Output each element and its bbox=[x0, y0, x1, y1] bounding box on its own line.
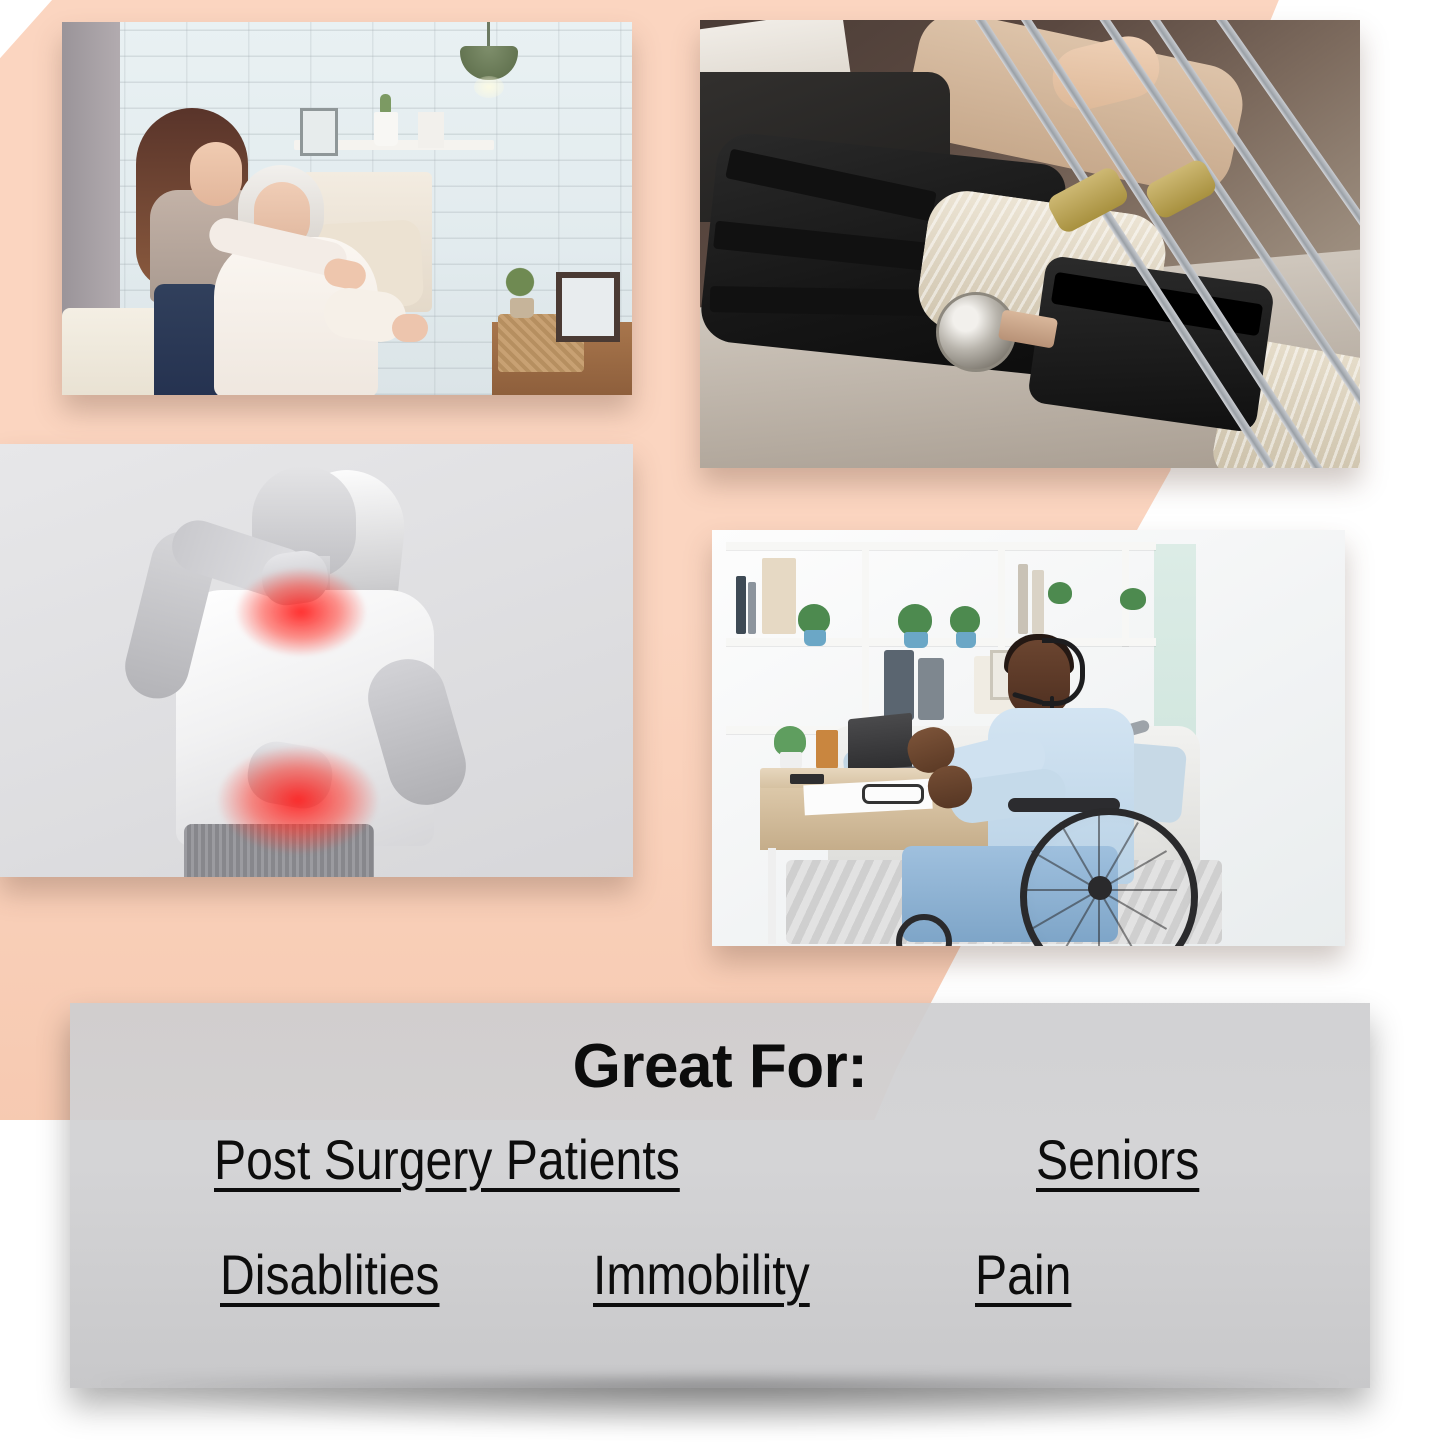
shelf-plant-pot-2 bbox=[904, 632, 928, 648]
senior-hand bbox=[392, 314, 428, 342]
photo-caregiver-senior bbox=[62, 22, 632, 395]
great-for-panel: Great For: Post Surgery Patients Seniors… bbox=[70, 1003, 1370, 1388]
shelf-plant-4 bbox=[1048, 582, 1072, 604]
caregiver-face bbox=[190, 142, 242, 206]
plant-pot bbox=[374, 112, 398, 146]
desk-leg-left bbox=[768, 848, 776, 944]
brace-strap-bottom bbox=[710, 286, 930, 316]
benefit-item-pain: Pain bbox=[975, 1246, 1071, 1305]
benefit-item-disablities: Disablities bbox=[220, 1246, 439, 1305]
shelf-card bbox=[418, 112, 444, 148]
photo-back-neck-pain bbox=[0, 444, 633, 877]
benefit-list: Post Surgery Patients Seniors Disablitie… bbox=[128, 1131, 1312, 1361]
shelf-divider-1 bbox=[862, 542, 869, 734]
shelf-plant-5 bbox=[1120, 588, 1146, 610]
photo-leg-brace-crutches bbox=[700, 20, 1360, 468]
shelf-book-2 bbox=[748, 582, 756, 634]
pain-highlight-neck bbox=[236, 568, 366, 656]
shelf-plant-3 bbox=[950, 606, 980, 634]
shelf-box-2 bbox=[918, 658, 944, 720]
shelf-book-3 bbox=[762, 558, 796, 634]
picture-frame-large bbox=[556, 272, 620, 342]
eyeglasses bbox=[862, 784, 924, 804]
lamp-cord bbox=[487, 22, 490, 48]
wheel-hub bbox=[1088, 876, 1112, 900]
shelf-box-1 bbox=[884, 650, 914, 720]
benefit-row: Post Surgery Patients Seniors bbox=[128, 1131, 1312, 1190]
shelf-book-4 bbox=[1018, 564, 1028, 634]
pencil-cup bbox=[816, 730, 838, 770]
benefit-item-post-surgery-patients: Post Surgery Patients bbox=[214, 1131, 680, 1190]
shelf-book-5 bbox=[1032, 570, 1044, 634]
smartphone bbox=[790, 774, 824, 784]
shelf-plant-pot-3 bbox=[956, 632, 976, 648]
photo-wheelchair-desk-worker bbox=[712, 530, 1345, 946]
infographic-canvas: Great For: Post Surgery Patients Seniors… bbox=[0, 0, 1445, 1445]
picture-frame-small bbox=[300, 108, 338, 156]
lamp-glow bbox=[474, 76, 504, 98]
shelf-middle bbox=[726, 638, 1156, 646]
panel-title: Great For: bbox=[70, 1031, 1370, 1102]
shelf-top bbox=[726, 542, 1156, 550]
caregiver-jeans bbox=[154, 284, 220, 395]
panel-drop-shadow bbox=[90, 1378, 1350, 1434]
benefit-row: Disablities Immobility Pain bbox=[128, 1246, 1312, 1305]
pain-highlight-lower-back bbox=[218, 746, 378, 854]
potted-plant-pot bbox=[510, 298, 534, 318]
benefit-item-seniors: Seniors bbox=[1036, 1131, 1199, 1190]
shelf-book-1 bbox=[736, 576, 746, 634]
shelf-plant-pot-1 bbox=[804, 630, 826, 646]
benefit-item-immobility: Immobility bbox=[593, 1246, 810, 1305]
